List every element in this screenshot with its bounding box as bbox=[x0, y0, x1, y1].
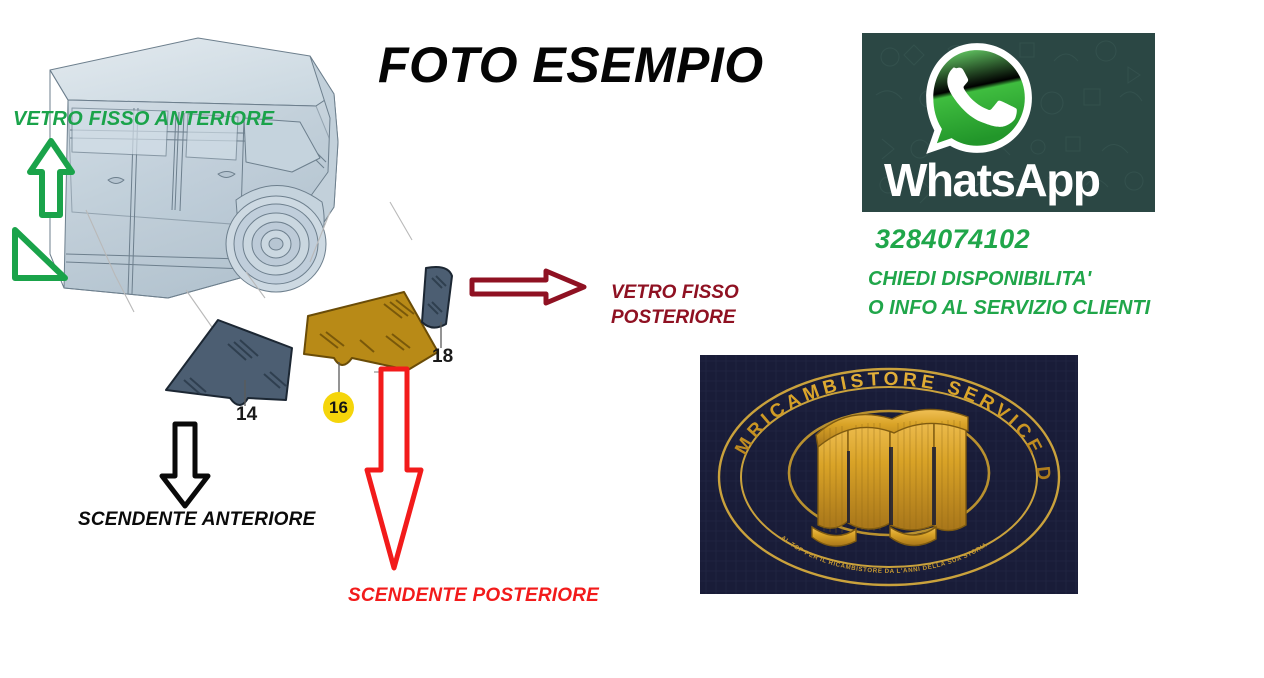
part-18-leader bbox=[436, 322, 446, 348]
part-number-16-label: 16 bbox=[329, 398, 348, 418]
part-14-leader bbox=[240, 380, 250, 406]
poster-canvas: 14 16 17 18 FOTO ESEMPIO VETRO FISSO ANT… bbox=[0, 0, 1264, 678]
part-number-18: 18 bbox=[432, 346, 453, 368]
down-arrow-black-icon bbox=[157, 420, 213, 510]
part-number-16-badge: 16 bbox=[323, 392, 354, 423]
label-vetro-fisso-anteriore: VETRO FISSO ANTERIORE bbox=[13, 108, 274, 131]
right-arrow-darkred-icon bbox=[468, 268, 588, 306]
up-arrow-green-icon bbox=[26, 138, 76, 218]
label-vetro-fisso-posteriore: VETRO FISSO POSTERIORE bbox=[611, 280, 739, 330]
triangle-green-icon bbox=[10, 226, 70, 284]
down-arrow-red-icon bbox=[362, 366, 426, 574]
contact-line-1: CHIEDI DISPONIBILITA' bbox=[868, 268, 1091, 291]
page-title: FOTO ESEMPIO bbox=[378, 36, 764, 94]
shop-logo: MRICAMBISTORE SERVICE DI RUSSO MARCO AL … bbox=[700, 355, 1078, 594]
whatsapp-banner[interactable]: WhatsApp bbox=[862, 33, 1155, 212]
label-scendente-anteriore: SCENDENTE ANTERIORE bbox=[78, 509, 315, 531]
label-vfp-line1: VETRO FISSO bbox=[611, 280, 739, 305]
part-14-door-glass bbox=[160, 318, 300, 428]
shop-logo-emblem: MRICAMBISTORE SERVICE DI RUSSO MARCO AL … bbox=[700, 355, 1078, 594]
part-16-leader bbox=[334, 362, 344, 396]
phone-number[interactable]: 3284074102 bbox=[875, 224, 1030, 255]
whatsapp-icon bbox=[914, 39, 1036, 161]
whatsapp-wordmark: WhatsApp bbox=[884, 155, 1134, 205]
label-scendente-posteriore: SCENDENTE POSTERIORE bbox=[348, 585, 599, 607]
part-number-14: 14 bbox=[236, 404, 257, 426]
label-vfp-line2: POSTERIORE bbox=[611, 305, 739, 330]
contact-line-2: O INFO AL SERVIZIO CLIENTI bbox=[868, 297, 1150, 320]
